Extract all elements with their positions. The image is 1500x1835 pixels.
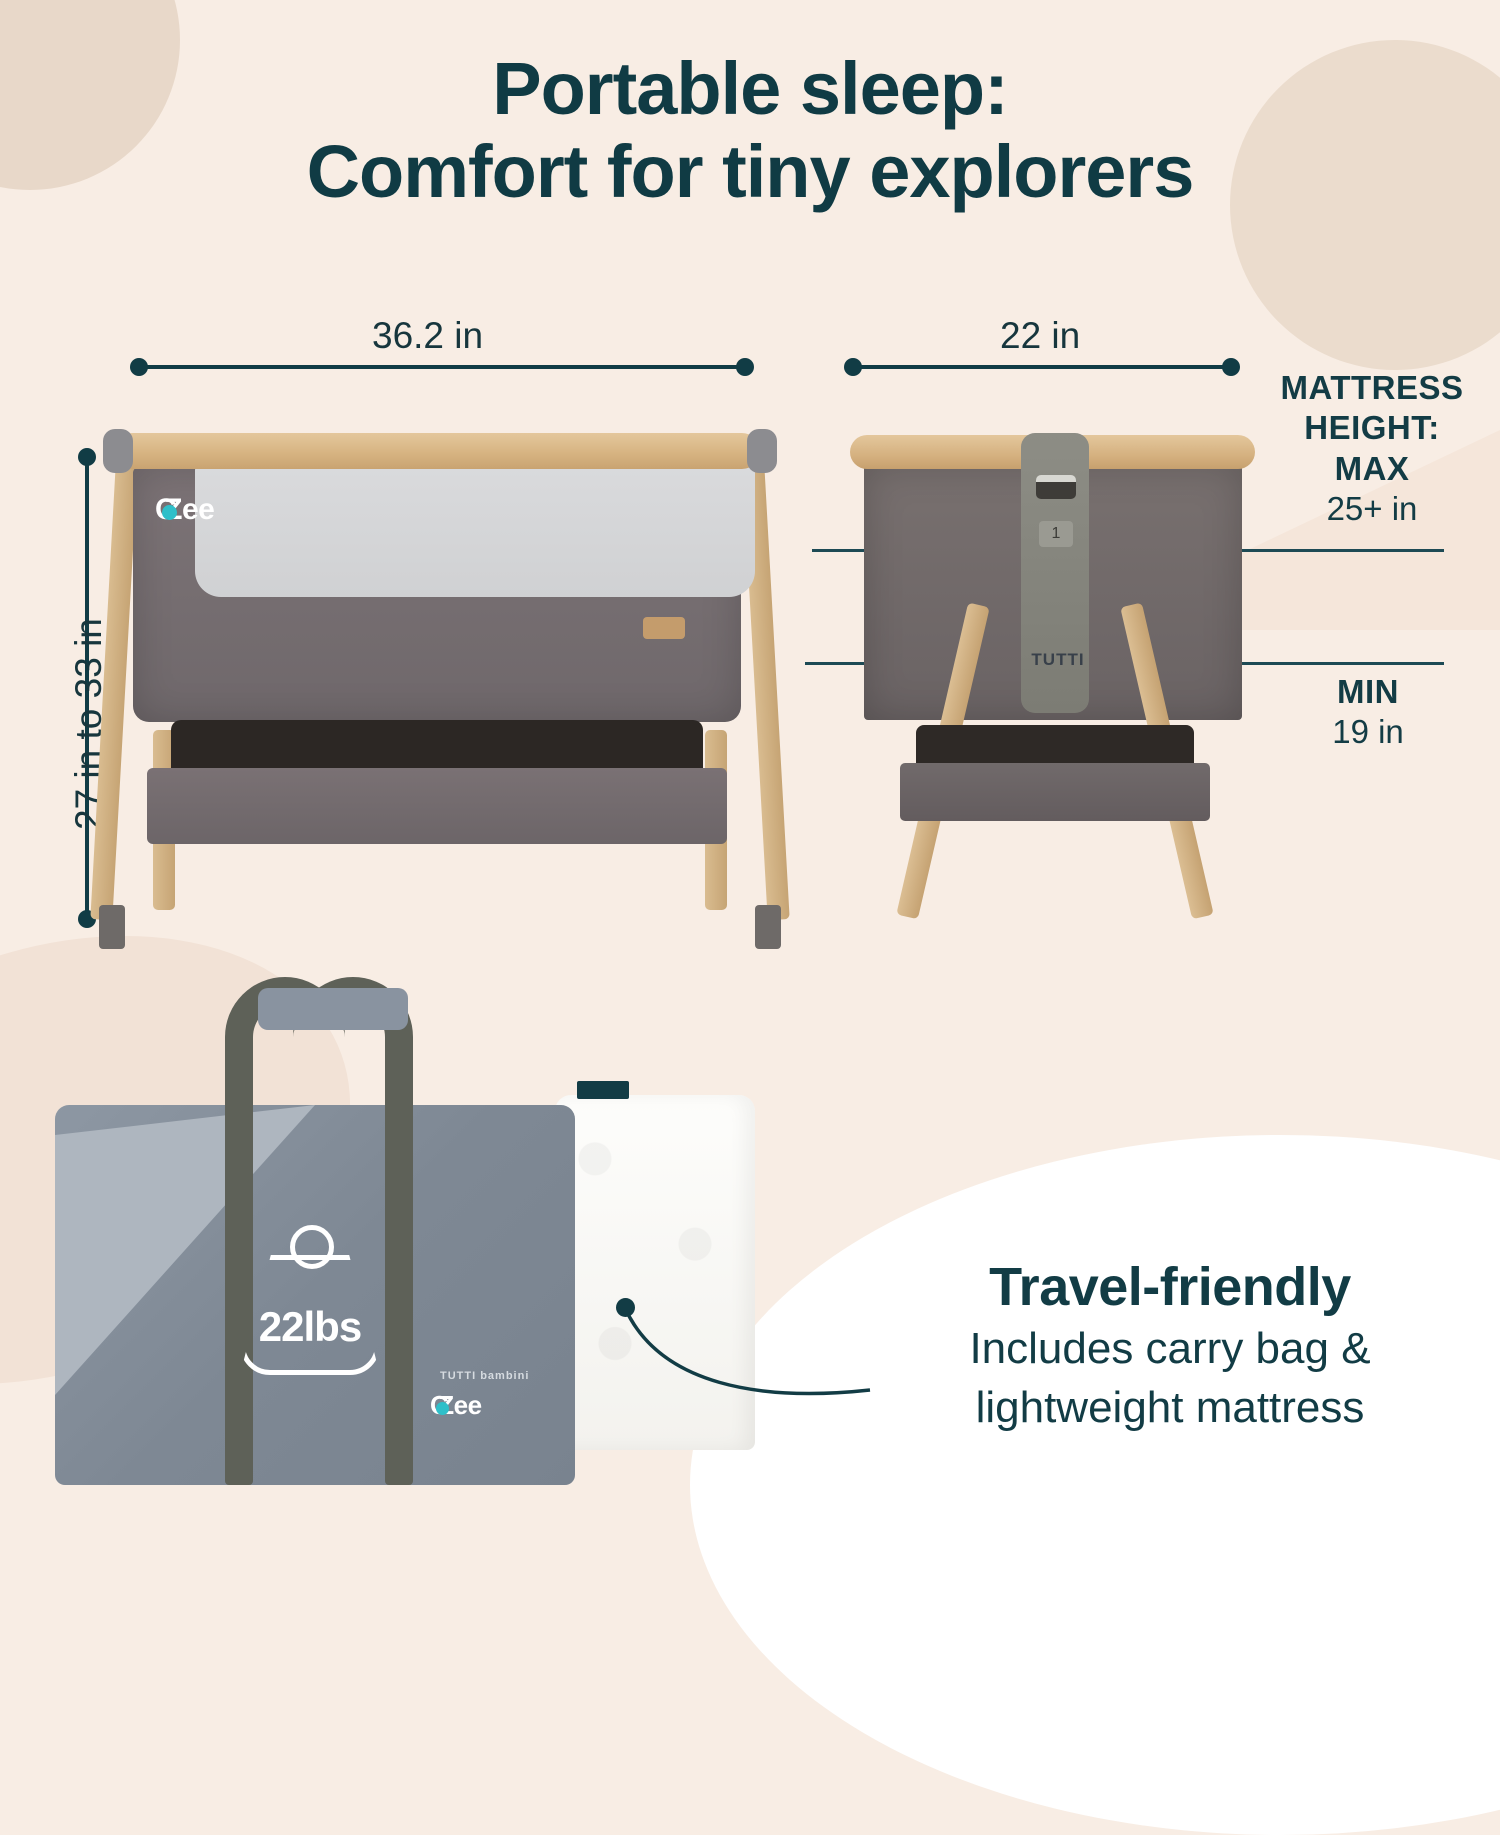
tutti-bambini-logo-side: TUTTI	[1018, 650, 1098, 670]
side-mechanism-number-badge: 1	[1039, 521, 1073, 547]
side-storage-basket	[900, 725, 1210, 825]
background-ellipse-bottom-right	[690, 1135, 1500, 1835]
headline-line-2: Comfort for tiny explorers	[0, 131, 1500, 214]
weight-value: 22lbs	[240, 1303, 380, 1351]
carry-bag-brand-text: TUTTI bambini	[440, 1370, 529, 1382]
mattress-height-min-value: 19 in	[1278, 712, 1458, 752]
side-basket-band	[900, 763, 1210, 821]
front-leather-badge	[643, 617, 685, 639]
front-storage-basket	[147, 720, 727, 845]
depth-dimension-label: 22 in	[1000, 315, 1080, 357]
mattress-height-title-1: MATTRESS	[1272, 368, 1472, 408]
travel-friendly-sub-line-2: lightweight mattress	[855, 1382, 1485, 1435]
front-rail-cap-right	[747, 429, 777, 473]
leader-line-path	[625, 1308, 870, 1393]
front-leg-outer-left	[90, 465, 137, 921]
bassinet-front-view: CZee	[95, 425, 785, 955]
side-mechanism-slot	[1036, 475, 1076, 499]
mattress-brand-tag	[577, 1081, 629, 1099]
front-top-rail	[115, 433, 760, 469]
travel-friendly-title: Travel-friendly	[855, 1258, 1485, 1317]
mattress-height-title-3: MAX	[1272, 449, 1472, 489]
mattress-height-min-title: MIN	[1278, 672, 1458, 712]
leader-line-dot	[616, 1298, 635, 1317]
front-foot-right	[755, 905, 781, 949]
bassinet-side-view: 1 TUTTI	[840, 425, 1270, 955]
width-dimension-line	[134, 365, 750, 369]
page-title: Portable sleep: Comfort for tiny explore…	[0, 48, 1500, 214]
carry-bag-padded-grip	[258, 988, 408, 1030]
mattress-height-max-block: MATTRESS HEIGHT: MAX 25+ in	[1272, 368, 1472, 529]
headline-line-1: Portable sleep:	[0, 48, 1500, 131]
front-rail-cap-left	[103, 429, 133, 473]
travel-friendly-block: Travel-friendly Includes carry bag & lig…	[855, 1258, 1485, 1435]
front-fabric-body	[133, 467, 741, 722]
front-basket-band	[147, 768, 727, 844]
weight-icon	[240, 1225, 380, 1375]
travel-friendly-sub-line-1: Includes carry bag &	[855, 1323, 1485, 1376]
mattress-height-min-block: MIN 19 in	[1278, 672, 1458, 753]
width-dimension-label: 36.2 in	[372, 315, 483, 357]
cozee-logo-front: CZee	[155, 493, 214, 527]
depth-dimension-line	[848, 365, 1236, 369]
mattress-height-max-value: 25+ in	[1272, 489, 1472, 529]
front-foot-left	[99, 905, 125, 949]
cozee-logo-bag: CZee	[430, 1390, 482, 1421]
mattress-height-title-2: HEIGHT:	[1272, 408, 1472, 448]
front-mesh-panel	[195, 467, 755, 597]
carry-bag-strap-right	[385, 1050, 413, 1485]
